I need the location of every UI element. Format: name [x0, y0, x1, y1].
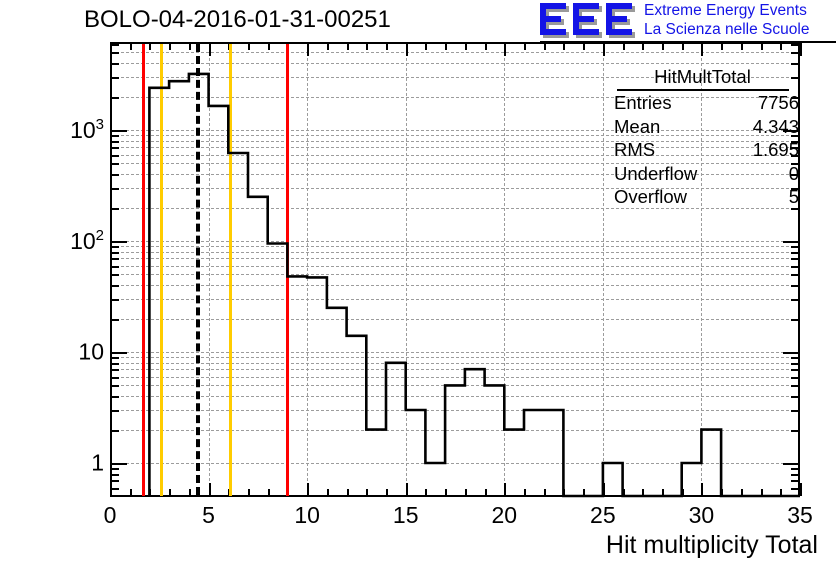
stats-row-label: Underflow: [614, 163, 697, 185]
stats-row: Mean4.343: [600, 115, 805, 139]
stats-row: Entries7756: [600, 91, 805, 115]
stats-row-label: Mean: [614, 116, 660, 138]
stats-row-value: 5: [789, 186, 799, 208]
stats-row-value: 7756: [758, 92, 799, 114]
stats-row-label: Entries: [614, 92, 672, 114]
stats-rows: Entries7756Mean4.343RMS1.695Underflow0Ov…: [600, 91, 805, 209]
stats-row-label: RMS: [614, 139, 655, 161]
stats-row: Overflow5: [600, 185, 805, 209]
stats-row-label: Overflow: [614, 186, 687, 208]
stats-row-value: 1.695: [753, 139, 799, 161]
stats-row: Underflow0: [600, 162, 805, 186]
root-canvas: BOLO-04-2016-01-31-00251: [0, 0, 836, 572]
stats-row-value: 4.343: [753, 116, 799, 138]
stats-box: HitMultTotal Entries7756Mean4.343RMS1.69…: [600, 66, 805, 209]
x-axis-title: Hit multiplicity Total: [606, 531, 818, 560]
stats-row: RMS1.695: [600, 138, 805, 162]
stats-row-value: 0: [789, 163, 799, 185]
stats-title: HitMultTotal: [617, 66, 789, 91]
